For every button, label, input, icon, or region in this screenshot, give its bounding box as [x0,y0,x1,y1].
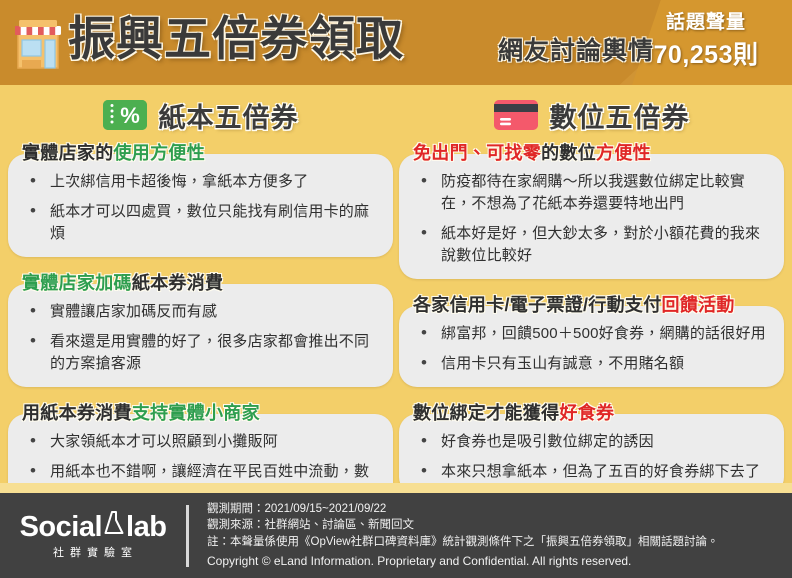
column-paper-voucher: % 紙本五倍券 實體店家的使用方便性 上次綁信用卡超後悔，拿紙本方便多了 紙本才… [8,85,393,517]
section-title-paper-2: 實體店家加碼紙本券消費 [8,269,393,295]
section-paper-2: 實體店家加碼紙本券消費 實體讓店家加碼反而有感 看來還是用實體的好了，很多店家都… [8,269,393,387]
footer-bar: Social lab 社群實驗室 觀測期間：2021/09/15~2021/09… [0,493,792,578]
footer-note: 註：本聲量係使用《OpView社群口碑資料庫》統計觀測條件下之「振興五倍券領取」… [207,534,719,551]
section-title-plain: 用紙本券消費 [22,403,132,423]
header-banner: 振興五倍券領取 網友討論輿情 話題聲量 70,253則 [0,0,792,85]
section-title-digital-1: 免出門、可找零的數位方便性 [399,139,784,165]
panel-paper-1: 上次綁信用卡超後悔，拿紙本方便多了 紙本才可以四處買，數位只能找有刷信用卡的麻煩 [8,154,393,257]
section-title-plain: 實體店家的 [22,143,114,163]
socialab-logo: Social lab 社群實驗室 [0,510,186,562]
panel-digital-1: 防疫都待在家網購～所以我選數位綁定比較實在，不想為了花紙本券還要特地出門 紙本好… [399,154,784,279]
section-title-highlight-2: 方便性 [596,143,651,163]
footer-meta: 觀測期間：2021/09/15~2021/09/22 觀測來源：社群網站、討論區… [189,501,719,571]
list-item: 防疫都待在家網購～所以我選數位綁定比較實在，不想為了花紙本券還要特地出門 [413,171,770,215]
volume-label: 話題聲量 [632,8,780,38]
column-header-paper: % 紙本五倍券 [8,94,393,136]
panel-paper-2: 實體讓店家加碼反而有感 看來還是用實體的好了，很多店家都會推出不同的方案搶客源 [8,284,393,387]
column-title-paper: 紙本五倍券 [159,96,299,135]
list-item: 實體讓店家加碼反而有感 [22,301,379,323]
bottom-stripe [0,483,792,493]
logo-social-text: Social [20,510,102,544]
svg-text:%: % [120,103,140,128]
section-title-highlight: 免出門、可找零 [413,143,541,163]
coupon-percent-icon: % [103,100,147,130]
list-item: 信用卡只有玉山有誠意，不用賭名額 [413,353,770,375]
list-item: 綁富邦，回饋500＋500好食券，網購的話很好用 [413,323,770,345]
column-digital-voucher: 數位五倍券 免出門、可找零的數位方便性 防疫都待在家網購～所以我選數位綁定比較實… [399,85,784,495]
list-item: 紙本好是好，但大鈔太多，對於小額花費的我來說數位比較好 [413,223,770,267]
content-area: % 紙本五倍券 實體店家的使用方便性 上次綁信用卡超後悔，拿紙本方便多了 紙本才… [0,85,792,493]
section-digital-1: 免出門、可找零的數位方便性 防疫都待在家網購～所以我選數位綁定比較實在，不想為了… [399,139,784,279]
list-item: 看來還是用實體的好了，很多店家都會推出不同的方案搶客源 [22,331,379,375]
section-digital-3: 數位綁定才能獲得好食券 好食券也是吸引數位綁定的誘因 本來只想拿紙本，但為了五百… [399,399,784,495]
section-title-highlight: 使用方便性 [114,143,206,163]
credit-card-icon [494,100,538,130]
section-title-paper-3: 用紙本券消費支持實體小商家 [8,399,393,425]
panel-digital-2: 綁富邦，回饋500＋500好食券，網購的話很好用 信用卡只有玉山有誠意，不用賭名… [399,306,784,387]
logo-subtitle: 社群實驗室 [0,544,186,562]
logo-lab-text: lab [126,510,166,544]
flask-icon [103,510,125,544]
footer-observation-period: 觀測期間：2021/09/15~2021/09/22 [207,501,719,518]
section-title-plain: 紙本券消費 [132,273,224,293]
section-title-plain: 各家信用卡/電子票證/行動支付 [413,295,662,315]
section-digital-2: 各家信用卡/電子票證/行動支付回饋活動 綁富邦，回饋500＋500好食券，網購的… [399,291,784,387]
section-paper-1: 實體店家的使用方便性 上次綁信用卡超後悔，拿紙本方便多了 紙本才可以四處買，數位… [8,139,393,257]
section-title-digital-2: 各家信用卡/電子票證/行動支付回饋活動 [399,291,784,317]
volume-value: 70,253則 [632,38,780,72]
section-title-highlight: 好食券 [559,403,614,423]
section-title-highlight: 回饋活動 [662,295,735,315]
column-header-digital: 數位五倍券 [399,94,784,136]
column-title-digital: 數位五倍券 [550,96,690,135]
section-title-plain: 的數位 [541,143,596,163]
section-title-highlight: 實體店家加碼 [22,273,132,293]
logo-wordmark: Social lab [0,510,186,544]
page-subtitle: 網友討論輿情 [498,34,654,68]
list-item: 上次綁信用卡超後悔，拿紙本方便多了 [22,171,379,193]
footer-copyright: Copyright © eLand Information. Proprieta… [207,552,719,570]
list-item: 好食券也是吸引數位綁定的誘因 [413,431,770,453]
section-title-digital-3: 數位綁定才能獲得好食券 [399,399,784,425]
store-icon [12,14,64,72]
page-title: 振興五倍券領取 [68,6,404,72]
section-title-plain: 數位綁定才能獲得 [413,403,559,423]
volume-stat: 話題聲量 70,253則 [632,8,780,72]
list-item: 大家領紙本才可以照顧到小攤販阿 [22,431,379,453]
list-item: 紙本才可以四處買，數位只能找有刷信用卡的麻煩 [22,201,379,245]
section-title-paper-1: 實體店家的使用方便性 [8,139,393,165]
section-title-highlight: 支持實體小商家 [132,403,260,423]
footer-observation-source: 觀測來源：社群網站、討論區、新聞回文 [207,517,719,534]
list-item: 本來只想拿紙本，但為了五百的好食券綁下去了 [413,461,770,483]
infographic-page: 振興五倍券領取 網友討論輿情 話題聲量 70,253則 % [0,0,792,578]
